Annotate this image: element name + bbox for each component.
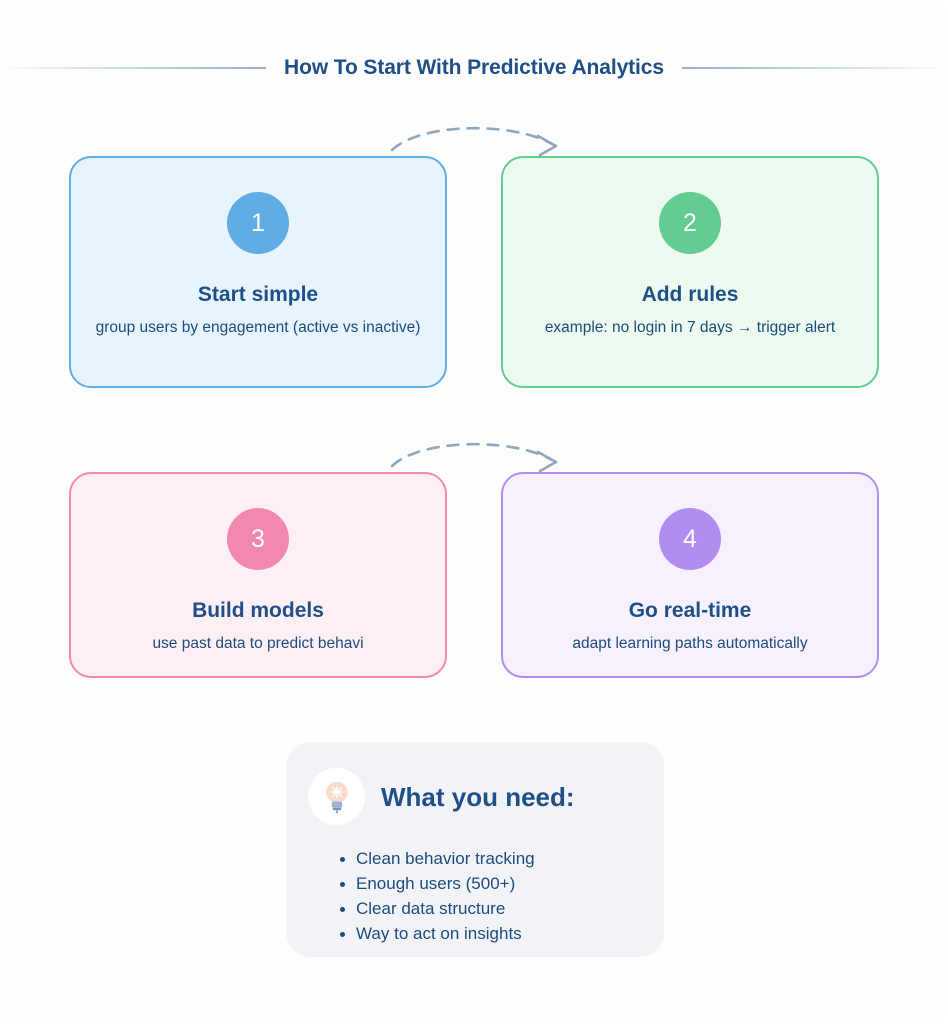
- step-card-3[interactable]: 3 Build models use past data to predict …: [69, 472, 447, 678]
- lightbulb-icon: [322, 780, 352, 814]
- arrow-step1-to-step2-icon: [388, 118, 568, 160]
- step-number-badge-4: 4: [659, 508, 721, 570]
- step-number-badge-3: 3: [227, 508, 289, 570]
- requirements-header: What you need:: [286, 768, 664, 825]
- title-rule-right: [682, 67, 940, 69]
- step-number-4: 4: [683, 527, 697, 552]
- step-number-badge-1: 1: [227, 192, 289, 254]
- requirement-item: Clear data structure: [340, 897, 664, 922]
- infographic-page: How To Start With Predictive Analytics 1…: [0, 0, 948, 1024]
- step-number-badge-2: 2: [659, 192, 721, 254]
- step-title-2: Add rules: [642, 282, 739, 307]
- requirements-panel: What you need: Clean behavior tracking E…: [286, 742, 664, 957]
- title-rule-left: [8, 67, 266, 69]
- step-description-2: example: no login in 7 days → trigger al…: [531, 318, 849, 339]
- requirements-title: What you need:: [381, 784, 575, 810]
- step-title-1: Start simple: [198, 282, 318, 307]
- requirement-item: Clean behavior tracking: [340, 847, 664, 872]
- page-title-row: How To Start With Predictive Analytics: [0, 56, 948, 80]
- step-card-2[interactable]: 2 Add rules example: no login in 7 days …: [501, 156, 879, 388]
- step-number-3: 3: [251, 527, 265, 552]
- lightbulb-icon-badge: [308, 768, 365, 825]
- requirement-item: Way to act on insights: [340, 922, 664, 947]
- step-description-1: group users by engagement (active vs ina…: [82, 318, 435, 339]
- step-card-1[interactable]: 1 Start simple group users by engagement…: [69, 156, 447, 388]
- requirements-list: Clean behavior tracking Enough users (50…: [286, 847, 664, 947]
- step-title-3: Build models: [192, 598, 324, 623]
- step-description-3: use past data to predict behavi: [138, 634, 377, 655]
- step-card-4[interactable]: 4 Go real-time adapt learning paths auto…: [501, 472, 879, 678]
- step-number-2: 2: [683, 211, 697, 236]
- page-title: How To Start With Predictive Analytics: [284, 56, 664, 80]
- step-title-4: Go real-time: [629, 598, 752, 623]
- arrow-step3-to-step4-icon: [388, 434, 568, 476]
- requirement-item: Enough users (500+): [340, 872, 664, 897]
- step-description-4: adapt learning paths automatically: [558, 634, 821, 655]
- step-number-1: 1: [251, 211, 265, 236]
